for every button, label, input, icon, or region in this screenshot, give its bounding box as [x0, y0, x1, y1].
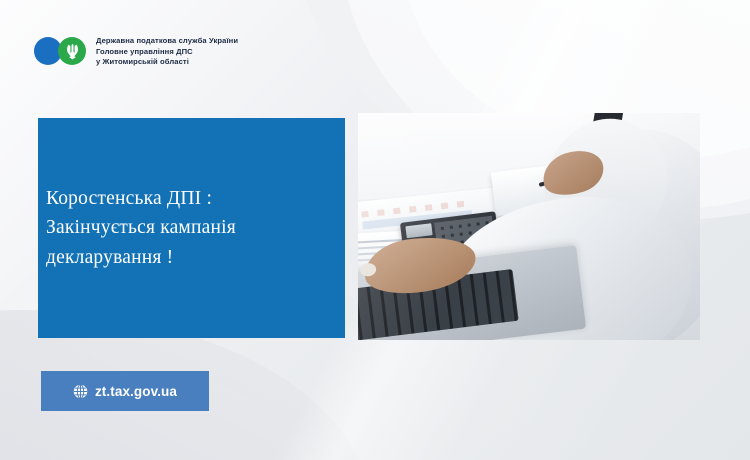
photo-content: [358, 113, 700, 340]
headline-panel: Коростенська ДПІ : Закінчується кампанія…: [38, 118, 345, 338]
office-desk-photo: [358, 113, 700, 340]
logo-line-1: Державна податкова служба України: [96, 36, 238, 46]
logo-line-2: Головне управління ДПС: [96, 47, 238, 57]
globe-icon: [73, 384, 88, 399]
headline-line-1: Коростенська ДПІ :: [46, 184, 345, 214]
logo-line-3: у Житомирській області: [96, 57, 238, 67]
organization-logo: Державна податкова служба України Головн…: [34, 36, 238, 67]
promo-banner: Державна податкова служба України Головн…: [0, 0, 750, 460]
logo-text-block: Державна податкова служба України Головн…: [96, 36, 238, 67]
logo-marks: [34, 37, 86, 65]
headline-line-3: декларування !: [46, 243, 345, 273]
headline-line-2: Закінчується кампанія: [46, 213, 345, 243]
website-url-text: zt.tax.gov.ua: [95, 384, 177, 399]
website-url-badge[interactable]: zt.tax.gov.ua: [41, 371, 209, 411]
photo-lighting-overlay: [358, 113, 700, 340]
green-circle-tryzub-icon: [58, 37, 86, 65]
